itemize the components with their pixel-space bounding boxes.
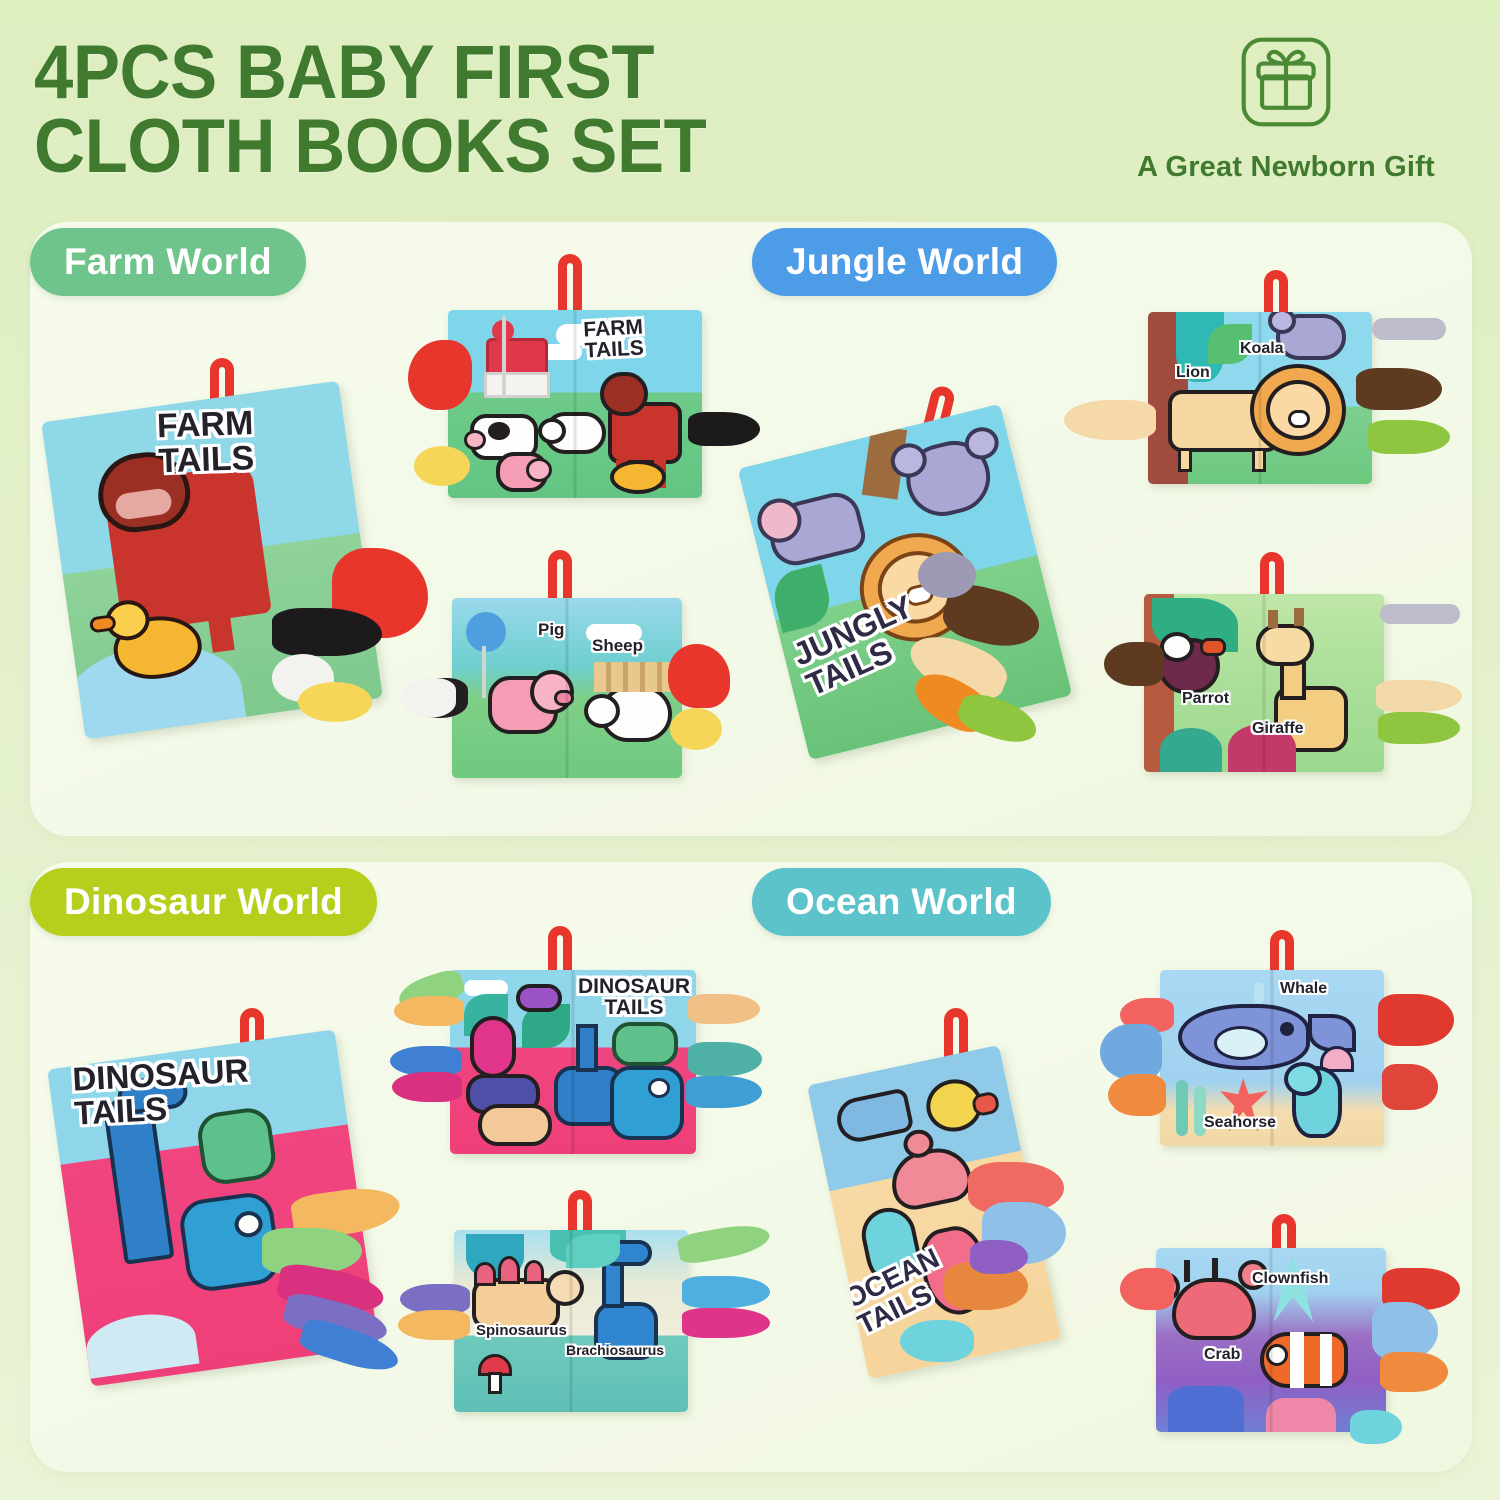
- header: 4PCS BABY FIRST CLOTH BOOKS SET A Great …: [0, 0, 1500, 215]
- plush-tail-gray-cord: [1380, 604, 1460, 624]
- title-line-1: 4PCS BABY FIRST: [34, 30, 654, 115]
- book-spread: Parrot Giraffe: [1144, 594, 1384, 772]
- plush-tail-orange: [1380, 1352, 1448, 1392]
- book-spread: DINOSAUR TAILS: [450, 970, 696, 1154]
- book-cover: JUNGLY TAILS: [738, 404, 1073, 760]
- plush-tail-tan: [688, 994, 760, 1024]
- book-title: FARM TAILS: [156, 406, 255, 479]
- plush-tail-black: [688, 412, 760, 446]
- plush-tail-green-dot: [1368, 420, 1450, 454]
- plush-tail-brown: [1356, 368, 1442, 410]
- gift-callout: A Great Newborn Gift: [1096, 36, 1476, 184]
- label-brachiosaurus: Brachiosaurus: [566, 1342, 664, 1358]
- plush-teether-yellow: [298, 682, 372, 722]
- label-whale: Whale: [1280, 980, 1327, 998]
- plush-teether-yellow: [670, 708, 722, 750]
- plush-tail-green: [676, 1220, 772, 1266]
- dinosaur-spread-2: Spinosaurus Brachiosaurus: [432, 1192, 772, 1452]
- book-title: DINOSAUR TAILS: [578, 976, 690, 1019]
- label-koala: Koala: [1240, 340, 1284, 358]
- label-lion: Lion: [1176, 364, 1210, 382]
- plush-tail-gray-cord: [1372, 318, 1446, 340]
- plush-tail-green-dot: [1378, 712, 1460, 744]
- farm-spread-2: Pig Sheep: [400, 556, 720, 816]
- jungle-book-cover: JUNGLY TAILS: [762, 392, 1082, 772]
- book-spread: Whale Seahorse: [1160, 970, 1384, 1146]
- label-clownfish: Clownfish: [1252, 1270, 1328, 1288]
- farm-book-cover: FARM TAILS: [62, 358, 392, 738]
- plush-tail-red: [1120, 1268, 1174, 1310]
- title-line-2: CLOTH BOOKS SET: [34, 110, 706, 184]
- label-pig: Pig: [538, 620, 564, 640]
- plush-tail-red-2: [1378, 994, 1454, 1046]
- dinosaur-book-cover: DINOSAUR TAILS: [62, 1002, 402, 1402]
- plush-cow-tail: [400, 678, 468, 718]
- farm-spread-1: FARM TAILS: [430, 262, 730, 512]
- label-parrot: Parrot: [1182, 690, 1229, 708]
- book-spread: Crab Clownfish: [1156, 1248, 1386, 1432]
- gift-caption: A Great Newborn Gift: [1096, 151, 1476, 184]
- hang-loop-icon: [558, 254, 582, 314]
- plush-tail-teal: [1350, 1410, 1402, 1444]
- book-spread: Spinosaurus Brachiosaurus: [454, 1230, 688, 1412]
- ocean-spread-2: Crab Clownfish: [1134, 1224, 1474, 1474]
- badge-dinosaur-world[interactable]: Dinosaur World: [30, 868, 377, 936]
- book-spread: Pig Sheep: [452, 598, 682, 778]
- plush-tail-blue: [682, 1276, 770, 1308]
- plush-tail-gray: [918, 552, 976, 598]
- plush-tail-blue-2: [686, 1076, 762, 1108]
- plush-tail-teal: [900, 1320, 974, 1362]
- plush-tail-magenta: [392, 1072, 462, 1102]
- plush-teether-yellow: [414, 446, 470, 486]
- badge-farm-world[interactable]: Farm World: [30, 228, 306, 296]
- book-spread: Lion Koala: [1148, 312, 1372, 484]
- ocean-spread-1: Whale Seahorse: [1114, 936, 1454, 1186]
- plush-tail-purple: [970, 1240, 1028, 1274]
- badge-ocean-world[interactable]: Ocean World: [752, 868, 1051, 936]
- plush-tail-red-3: [1382, 1064, 1438, 1110]
- plush-tail-orange: [394, 996, 464, 1026]
- label-spinosaurus: Spinosaurus: [476, 1322, 567, 1339]
- label-crab: Crab: [1204, 1346, 1240, 1364]
- plush-tail-orange: [1108, 1074, 1166, 1116]
- jungle-spread-2: Parrot Giraffe: [1122, 552, 1462, 802]
- plush-tail-brown: [1104, 642, 1164, 686]
- plush-tail-tan: [1376, 680, 1462, 712]
- gift-box-icon: [1240, 36, 1332, 128]
- plush-tail-red: [408, 340, 472, 410]
- plush-tail-blue-mesh: [1100, 1024, 1162, 1080]
- book-spread: FARM TAILS: [448, 310, 702, 498]
- plush-tail-tan: [1064, 400, 1156, 440]
- page-title: 4PCS BABY FIRST CLOTH BOOKS SET: [34, 36, 706, 183]
- dinosaur-spread-1: DINOSAUR TAILS: [424, 934, 744, 1184]
- label-seahorse: Seahorse: [1204, 1114, 1276, 1132]
- plush-tail-magenta: [682, 1308, 770, 1338]
- plush-tail-orange: [398, 1310, 470, 1340]
- jungle-spread-1: Lion Koala: [1104, 270, 1444, 520]
- badge-jungle-world[interactable]: Jungle World: [752, 228, 1057, 296]
- book-title: FARM TAILS: [583, 316, 645, 362]
- ocean-book-cover: OCEAN TAILS: [772, 1004, 1102, 1404]
- label-sheep: Sheep: [592, 636, 643, 656]
- label-giraffe: Giraffe: [1252, 720, 1304, 738]
- plush-tail-green-2: [688, 1042, 762, 1076]
- book-title: DINOSAUR TAILS: [72, 1054, 251, 1130]
- plush-tail-black: [272, 608, 382, 656]
